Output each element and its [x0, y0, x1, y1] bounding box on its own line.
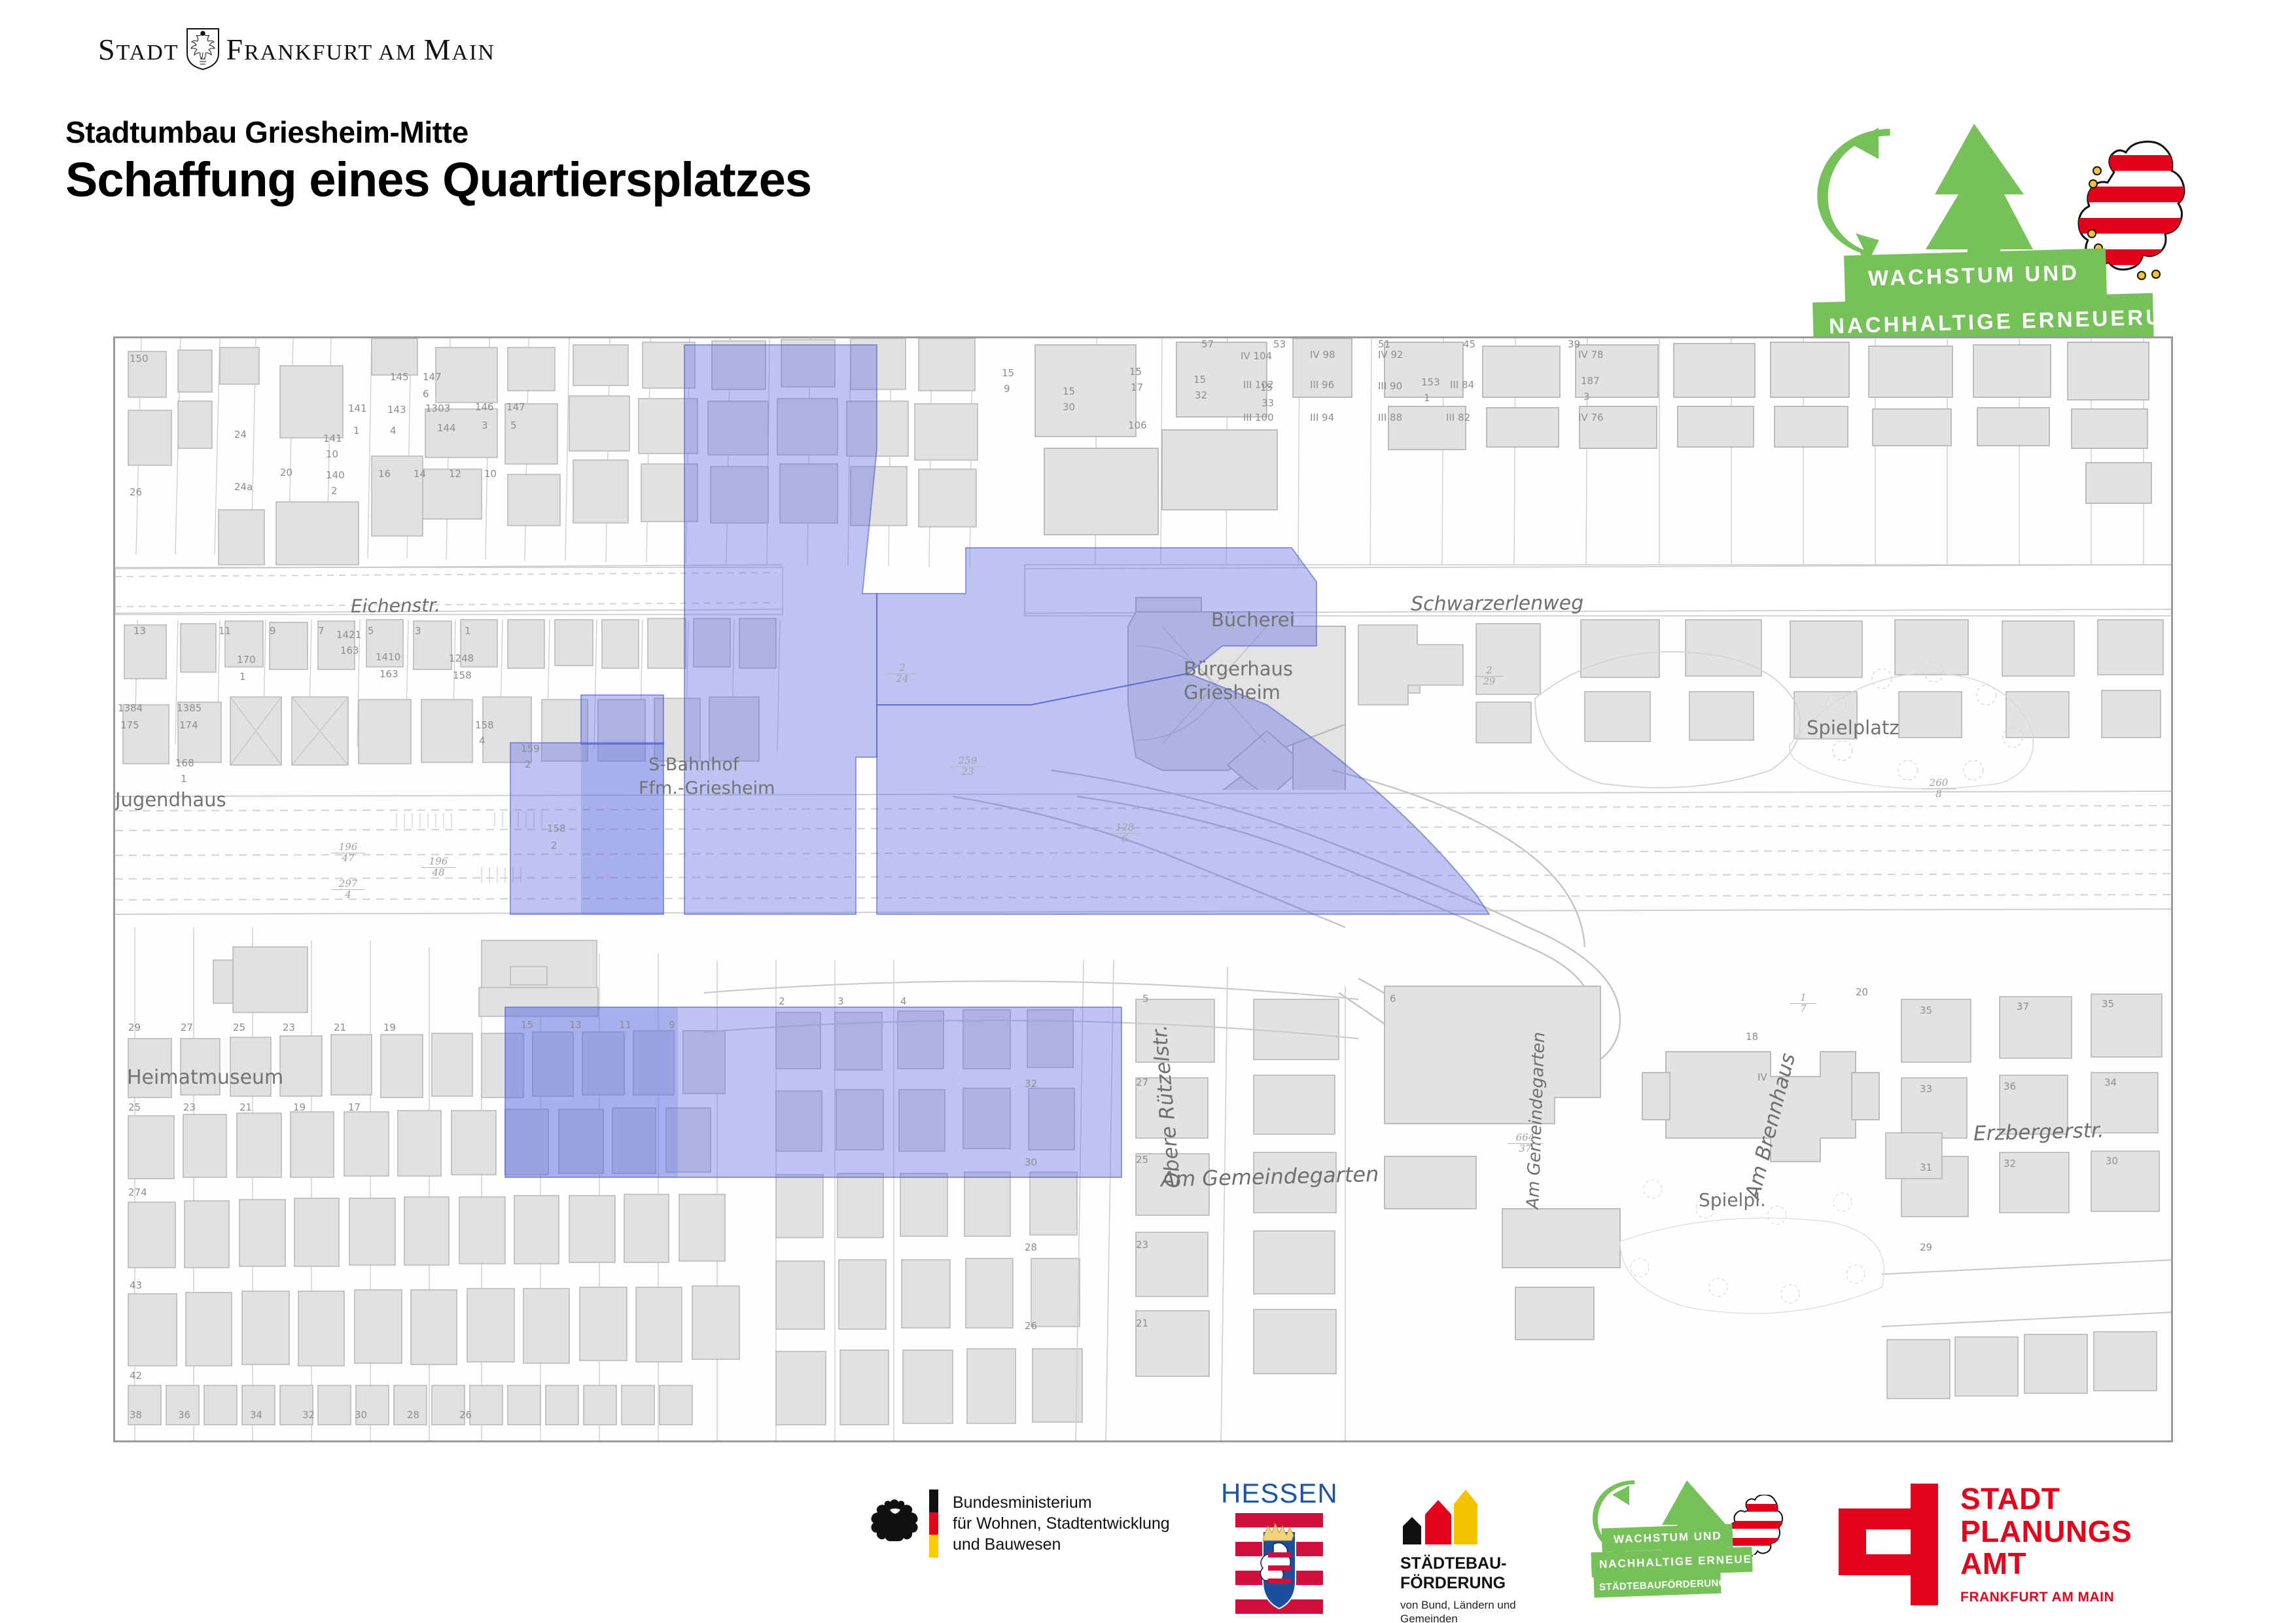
- map-number: 1410: [376, 651, 400, 663]
- map-number: 1385: [177, 702, 202, 714]
- map-number: 20: [280, 467, 292, 478]
- map-number: 150: [130, 353, 149, 365]
- spa-line2: PLANUNGS: [1960, 1516, 2132, 1548]
- footer-logos: Bundesministerium für Wohnen, Stadtentwi…: [0, 1472, 2296, 1623]
- map-number: IV 76: [1578, 412, 1604, 423]
- map-number: 15: [1193, 374, 1206, 385]
- map-number: 158: [453, 669, 472, 681]
- poi-label-spielplatz: Spielplatz: [1807, 717, 1899, 739]
- map-number: 24a: [234, 481, 253, 493]
- poi-label-buecherei: Bücherei: [1211, 609, 1295, 631]
- map-number: 17: [348, 1101, 361, 1113]
- map-number: 10: [326, 448, 338, 460]
- map-fraction: 66437: [1508, 1133, 1543, 1154]
- map-number: 21: [239, 1101, 252, 1113]
- map-number: 53: [1273, 338, 1286, 350]
- program-small-band3: STÄDTEBAUFÖRDERUNG HESSEN: [1594, 1573, 1722, 1598]
- map-number: 28: [407, 1409, 419, 1421]
- map-number: 27: [1136, 1077, 1148, 1088]
- spa-sub: FRANKFURT AM MAIN: [1960, 1590, 2132, 1605]
- map-number: 26: [130, 486, 142, 498]
- three-houses-icon: [1400, 1486, 1477, 1544]
- map-number: III 96: [1310, 379, 1334, 391]
- hessen-coat-of-arms-icon: [1235, 1513, 1323, 1616]
- map-number: 141: [323, 433, 342, 444]
- map-number: 23: [1136, 1239, 1148, 1251]
- map-number: 145: [390, 371, 409, 383]
- map-number: 5: [510, 419, 517, 431]
- map-number: 23: [283, 1022, 295, 1033]
- map-number: 32: [1195, 389, 1207, 401]
- city-logo-left-text: STADT: [98, 32, 179, 67]
- map-number: IV 78: [1578, 349, 1604, 361]
- map-number: 32: [2004, 1158, 2016, 1169]
- map-number: 25: [1136, 1154, 1148, 1166]
- map-number: 31: [1920, 1162, 1932, 1173]
- bmwsb-text: Bundesministerium für Wohnen, Stadtentwi…: [953, 1492, 1170, 1555]
- map-canvas: Eichenstr. Schwarzerlenweg S-Bahnhof Ffm…: [115, 338, 2171, 1440]
- map-number: IV 92: [1378, 349, 1404, 361]
- map-number: 163: [380, 668, 398, 680]
- map-number: 36: [178, 1409, 190, 1421]
- map-number: 24: [234, 429, 247, 440]
- map-number: 5: [368, 625, 374, 637]
- map-number: 9: [669, 1019, 675, 1031]
- map-number: 1: [353, 425, 360, 437]
- map-fraction: 19647: [331, 842, 365, 864]
- map-fraction: 229: [1475, 666, 1504, 687]
- map-number: 25: [233, 1022, 245, 1033]
- map-number: 2: [331, 485, 338, 497]
- map-number: 7: [318, 625, 325, 637]
- bmwsb-line3: und Bauwesen: [953, 1534, 1170, 1555]
- map-fraction: 19648: [421, 857, 455, 878]
- map-number: III 90: [1378, 380, 1402, 392]
- staedtebau-sub2: Gemeinden: [1400, 1612, 1516, 1623]
- map-number: 9: [1004, 383, 1010, 395]
- map-number: 170: [237, 654, 256, 666]
- map-number: 159: [521, 743, 540, 755]
- map-number: 34: [2104, 1077, 2117, 1088]
- map-number: 23: [183, 1101, 196, 1113]
- map-number: 6: [423, 388, 429, 400]
- map-number: 45: [1463, 338, 1475, 350]
- city-of-frankfurt-logo: STADT FRANKFURT AM MAIN: [98, 27, 495, 71]
- map-number: 274: [128, 1186, 147, 1198]
- map-number: 37: [2017, 1001, 2029, 1012]
- map-number: 1248: [449, 652, 474, 664]
- map-number: 38: [130, 1409, 142, 1421]
- map-number: 106: [1128, 419, 1147, 431]
- map-number: III 84: [1450, 379, 1474, 391]
- map-number: 158: [475, 719, 494, 731]
- staedtebau-line1: STÄDTEBAU-: [1400, 1554, 1507, 1573]
- map-number: 15: [521, 1019, 533, 1031]
- map-fraction: 224: [887, 663, 917, 685]
- map-number: IV 98: [1310, 349, 1335, 361]
- map-number: III 82: [1446, 412, 1470, 423]
- logo-stadtplanungsamt: STADT PLANUNGS AMT FRANKFURT AM MAIN: [1839, 1483, 2132, 1605]
- map-number: 2: [551, 840, 557, 851]
- map-number: III 102: [1243, 379, 1274, 391]
- map-number: 11: [219, 625, 231, 637]
- map-number: 143: [387, 404, 406, 416]
- map-number: 6: [1390, 993, 1396, 1005]
- map-number: 4: [479, 735, 486, 747]
- map-number: 33: [1262, 397, 1274, 409]
- map-fraction: 25923: [950, 756, 985, 777]
- map-number: 2: [779, 995, 785, 1007]
- spa-line3: AMT: [1960, 1548, 2132, 1580]
- map-number: 21: [1136, 1317, 1148, 1329]
- map-number: 163: [340, 645, 359, 656]
- hessen-wordmark: HESSEN: [1221, 1478, 1338, 1509]
- map-number: 1421: [336, 629, 361, 641]
- poi-label-spielpl: Spielpl.: [1699, 1189, 1766, 1211]
- map-number: 39: [1568, 338, 1580, 350]
- project-subtitle: Stadtumbau Griesheim-Mitte: [65, 115, 468, 150]
- stadtplanungsamt-text: STADT PLANUNGS AMT FRANKFURT AM MAIN: [1960, 1483, 2132, 1605]
- city-logo-right-text: FRANKFURT AM MAIN: [226, 32, 495, 67]
- map-number: 2: [525, 758, 531, 770]
- map-number: 57: [1201, 338, 1214, 350]
- bmwsb-line1: Bundesministerium: [953, 1492, 1170, 1513]
- frankfurt-eagle-shield-icon: [186, 27, 220, 71]
- street-label-eichenstr: Eichenstr.: [351, 594, 440, 617]
- recycling-arrow-tree-icon: [1813, 121, 2088, 272]
- map-number: 15: [1002, 367, 1014, 379]
- map-number: 26: [459, 1409, 472, 1421]
- federal-eagle-icon: [870, 1495, 920, 1552]
- map-number: 13: [569, 1019, 582, 1031]
- map-number: 15: [1129, 366, 1142, 378]
- map-number: 35: [2102, 998, 2114, 1010]
- map-number: 26: [1025, 1320, 1037, 1332]
- map-number: 20: [1856, 986, 1868, 998]
- poi-label-jugendhaus: Jugendhaus: [115, 789, 226, 811]
- map-number: 33: [1920, 1083, 1932, 1095]
- map-number: 27: [181, 1022, 193, 1033]
- map-fraction: 17: [1790, 993, 1816, 1014]
- logo-hessen: HESSEN: [1221, 1478, 1338, 1616]
- map-number: 1: [1424, 392, 1430, 404]
- map-number: 144: [437, 422, 456, 434]
- map-number: 13: [133, 625, 146, 637]
- poi-label-heimatmuseum: Heimatmuseum: [127, 1066, 283, 1089]
- cadastral-map[interactable]: Eichenstr. Schwarzerlenweg S-Bahnhof Ffm…: [113, 336, 2173, 1442]
- map-number: 42: [130, 1370, 142, 1382]
- logo-staedtebaufoerderung: STÄDTEBAU- FÖRDERUNG von Bund, Ländern u…: [1400, 1486, 1516, 1623]
- map-number: 30: [355, 1409, 367, 1421]
- map-number: IV 104: [1241, 350, 1272, 362]
- map-number: 141: [348, 402, 367, 414]
- map-number: IV: [1757, 1071, 1767, 1083]
- map-number: 3: [415, 625, 421, 637]
- street-label-schwarzerlenweg: Schwarzerlenweg: [1411, 592, 1583, 616]
- poster-page: STADT FRANKFURT AM MAIN Stadtumbau Gries…: [0, 0, 2296, 1623]
- map-number: 4: [900, 995, 907, 1007]
- map-fraction: 1286: [1110, 823, 1140, 844]
- map-number: 32: [302, 1409, 315, 1421]
- map-number: 1: [465, 625, 471, 637]
- map-number: 147: [506, 401, 525, 413]
- staedtebau-line2: FÖRDERUNG: [1400, 1573, 1507, 1593]
- map-number: 147: [423, 371, 442, 383]
- map-number: 9: [270, 625, 276, 637]
- map-number: 1: [239, 671, 246, 683]
- street-label-am-gemeindegarten: Am Gemeindegarten: [1161, 1162, 1379, 1192]
- map-number: 175: [120, 719, 139, 731]
- page-title: Schaffung eines Quartiersplatzes: [65, 152, 811, 207]
- map-number: 146: [475, 401, 494, 413]
- bmwsb-line2: für Wohnen, Stadtentwicklung: [953, 1513, 1170, 1534]
- map-number: 153: [1421, 376, 1440, 388]
- logo-bmwsb: Bundesministerium für Wohnen, Stadtentwi…: [870, 1489, 1170, 1558]
- map-number: 32: [1025, 1078, 1037, 1090]
- map-number: III 100: [1243, 412, 1274, 423]
- map-number: 19: [383, 1022, 396, 1033]
- map-number: 29: [128, 1022, 141, 1033]
- map-number: 1303: [425, 402, 450, 414]
- map-number: 21: [334, 1022, 346, 1033]
- staedtebau-sub1: von Bund, Ländern und: [1400, 1598, 1516, 1612]
- map-number: 36: [2004, 1080, 2016, 1092]
- map-number: 140: [326, 469, 345, 481]
- map-number: 1384: [118, 702, 143, 714]
- program-band-line1: WACHSTUM UND: [1844, 248, 2107, 302]
- map-number: 19: [293, 1101, 306, 1113]
- map-number: 51: [1378, 338, 1390, 350]
- project-area-highlight: [115, 338, 2173, 1442]
- poi-label-griesheim: Griesheim: [1184, 681, 1280, 704]
- stadtplanungsamt-mark-icon: [1839, 1484, 1938, 1605]
- map-number: 28: [1025, 1241, 1037, 1253]
- map-number: 17: [1131, 382, 1143, 393]
- map-number: 158: [547, 823, 566, 834]
- map-number: 174: [179, 719, 198, 731]
- map-number: 3: [838, 995, 844, 1007]
- map-number: 30: [1063, 401, 1075, 413]
- poi-label-buergerhaus: Bürgerhaus: [1184, 658, 1293, 680]
- map-number: 14: [414, 468, 426, 480]
- german-flag-bar-icon: [929, 1489, 938, 1558]
- map-number: 1: [181, 773, 187, 785]
- map-number: 15: [1063, 385, 1075, 397]
- map-number: 11: [619, 1019, 631, 1031]
- map-number: 30: [1025, 1156, 1037, 1168]
- map-number: 187: [1581, 375, 1600, 387]
- map-number: 18: [1746, 1031, 1758, 1043]
- staedtebau-text: STÄDTEBAU- FÖRDERUNG: [1400, 1554, 1507, 1593]
- map-number: III 88: [1378, 412, 1402, 423]
- map-number: 43: [130, 1279, 142, 1291]
- map-fraction: 2608: [1921, 778, 1956, 800]
- poi-label-s-bahnhof: S-Bahnhof: [648, 755, 739, 775]
- street-label-erzbergerstr: Erzbergerstr.: [1973, 1118, 2105, 1145]
- map-number: 25: [128, 1101, 141, 1113]
- map-number: 34: [250, 1409, 262, 1421]
- map-number: 30: [2106, 1155, 2118, 1167]
- map-number: 35: [1920, 1005, 1932, 1016]
- map-number: 5: [1142, 993, 1149, 1005]
- staedtebau-sub: von Bund, Ländern und Gemeinden: [1400, 1598, 1516, 1623]
- poi-label-s-bahnhof-name: Ffm.-Griesheim: [639, 778, 775, 798]
- map-number: 10: [484, 468, 497, 480]
- logo-program-small: WACHSTUM UND NACHHALTIGE ERNEUERUNG STÄD…: [1590, 1480, 1786, 1605]
- map-number: III 94: [1310, 412, 1334, 423]
- map-number: 12: [449, 468, 461, 480]
- map-fraction: 2974: [331, 879, 365, 901]
- map-number: 29: [1920, 1241, 1932, 1253]
- map-number: 4: [390, 425, 397, 437]
- map-number: 3: [1583, 391, 1590, 402]
- spa-line1: STADT: [1960, 1483, 2132, 1516]
- map-number: 3: [482, 419, 488, 431]
- map-number: 16: [378, 468, 391, 480]
- map-number: 168: [175, 757, 194, 769]
